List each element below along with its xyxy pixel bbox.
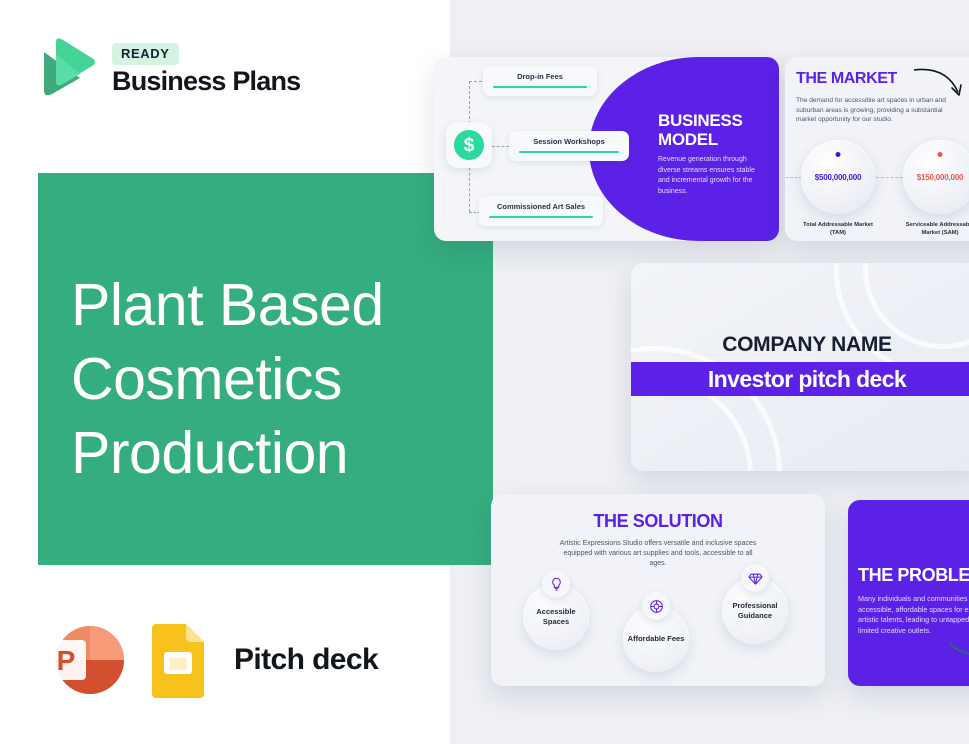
solution-node[interactable]: Professional Guidance [722, 578, 788, 644]
kpi-caption: Total Addressable Market (TAM) [801, 221, 875, 237]
solution-node-label: Accessible Spaces [523, 607, 589, 627]
kpi-disc: $500,000,000 [801, 140, 875, 214]
accent-bar [489, 216, 593, 218]
business-model-item-label: Commissioned Art Sales [489, 202, 593, 211]
business-model-item-label: Drop-in Fees [493, 72, 587, 81]
business-model-title: BUSINESS MODEL [658, 111, 770, 149]
kpi-tam[interactable]: $500,000,000 Total Addressable Market (T… [801, 140, 875, 237]
accent-bar [493, 86, 587, 88]
company-subtitle: Investor pitch deck [708, 366, 906, 393]
google-slides-file-icon [146, 622, 210, 698]
solution-title: THE SOLUTION [491, 511, 825, 532]
company-subtitle-band: Investor pitch deck [631, 362, 969, 396]
business-model-item-label: Session Workshops [519, 137, 619, 146]
dollar-sign-icon: $ [446, 122, 492, 168]
kpi-caption: Serviceable Addressable Market (SAM) [903, 221, 969, 237]
powerpoint-file-icon: P [38, 618, 128, 702]
format-row: P Pitch deck [38, 618, 378, 702]
solution-node-label: Affordable Fees [628, 634, 685, 644]
ready-badge: READY [112, 43, 179, 65]
solution-description: Artistic Expressions Studio offers versa… [556, 539, 760, 569]
kpi-sam[interactable]: $150,000,000 Serviceable Addressable Mar… [903, 140, 969, 237]
brand-logo: READY Business Plans [40, 38, 300, 100]
diamond-icon [741, 564, 769, 592]
format-label: Pitch deck [234, 643, 378, 677]
business-model-item[interactable]: Session Workshops [509, 131, 629, 161]
decorative-arc [834, 263, 969, 378]
kpi-dash-left [786, 177, 802, 178]
circle-target-icon [642, 592, 670, 620]
business-model-description: Revenue generation through diverse strea… [658, 155, 766, 197]
business-model-item[interactable]: Drop-in Fees [483, 66, 597, 96]
kpi-dot [836, 152, 841, 157]
market-title: THE MARKET [796, 70, 897, 88]
solution-node[interactable]: Affordable Fees [623, 606, 689, 672]
solution-node-label: Professional Guidance [722, 601, 788, 621]
swoosh-decoration-icon [950, 640, 969, 670]
page-title: Plant Based Cosmetics Production [71, 268, 471, 490]
curved-arrow-icon [912, 66, 969, 102]
svg-text:P: P [57, 645, 76, 676]
poster-canvas: READY Business Plans Plant Based Cosmeti… [0, 0, 969, 744]
kpi-dot [938, 152, 943, 157]
kpi-value: $150,000,000 [917, 173, 964, 182]
kpi-disc: $150,000,000 [903, 140, 969, 214]
solution-node[interactable]: Accessible Spaces [523, 584, 589, 650]
kpi-dash-middle [876, 177, 903, 178]
accent-bar [519, 151, 619, 153]
play-triangle-logo-icon [40, 38, 98, 100]
problem-title: THE PROBLEM [858, 565, 969, 586]
problem-description: Many individuals and communities lack ac… [858, 594, 969, 636]
brand-name: Business Plans [112, 67, 300, 95]
business-model-item[interactable]: Commissioned Art Sales [479, 196, 603, 226]
company-name: COMPANY NAME [631, 333, 969, 357]
kpi-value: $500,000,000 [815, 173, 862, 182]
brand-text: READY Business Plans [112, 43, 300, 95]
lightbulb-icon [542, 570, 570, 598]
